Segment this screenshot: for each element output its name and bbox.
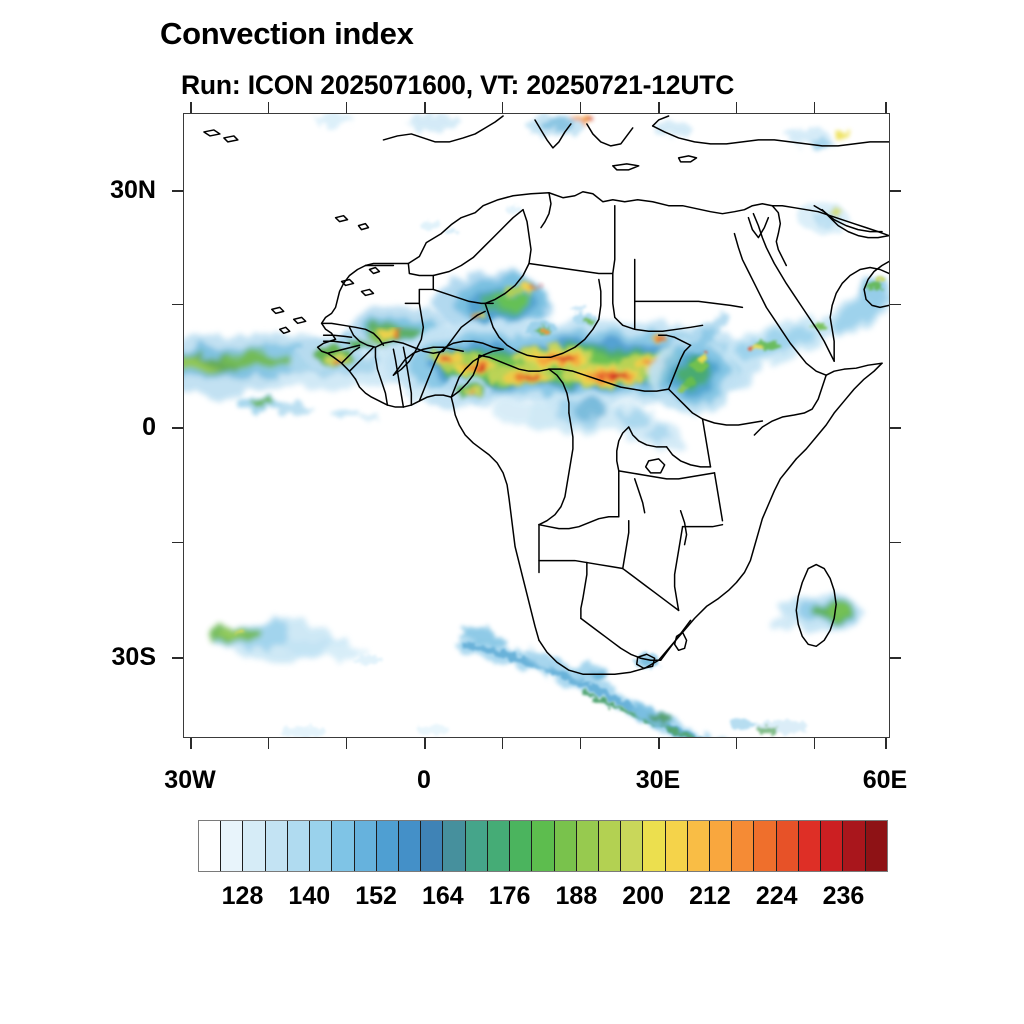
- x-tick-top-10w: [346, 102, 347, 113]
- y-axis-label-0: 0: [46, 415, 156, 440]
- x-tick-20w: [268, 738, 269, 749]
- colorbar-cell: [710, 821, 732, 871]
- x-tick-top-30w: [190, 102, 192, 113]
- run-valid-time-subtitle: Run: ICON 2025071600, VT: 20250721-12UTC: [181, 72, 734, 99]
- colorbar-cell: [754, 821, 776, 871]
- x-tick-60e: [885, 738, 887, 749]
- colorbar-cell: [666, 821, 688, 871]
- x-tick-top-30e: [658, 102, 660, 113]
- colorbar-label-152: 152: [355, 884, 397, 909]
- colorbar-cell: [799, 821, 821, 871]
- convection-index-figure: Convection index Run: ICON 2025071600, V…: [0, 0, 1024, 1024]
- colorbar-cell: [266, 821, 288, 871]
- x-tick-top-10e: [502, 102, 503, 113]
- colorbar-cell: [199, 821, 221, 871]
- map-canvas: [184, 114, 889, 737]
- colorbar-cell: [466, 821, 488, 871]
- colorbar-cell: [555, 821, 577, 871]
- colorbar-cell: [377, 821, 399, 871]
- x-tick-top-20w: [268, 102, 269, 113]
- colorbar-cell: [532, 821, 554, 871]
- x-tick-top-40e: [736, 102, 737, 113]
- colorbar-cell: [443, 821, 465, 871]
- y-tick-30n: [172, 190, 183, 192]
- y-tick-0: [172, 427, 183, 429]
- x-tick-40e: [736, 738, 737, 749]
- x-tick-top-20e: [580, 102, 581, 113]
- colorbar-cells[interactable]: [198, 820, 888, 872]
- colorbar-label-188: 188: [556, 884, 598, 909]
- colorbar-cell: [599, 821, 621, 871]
- colorbar-cell: [221, 821, 243, 871]
- y-tick-right-30s: [890, 657, 901, 659]
- colorbar-cell: [510, 821, 532, 871]
- x-axis-label-0: 0: [364, 768, 484, 793]
- colorbar-cell: [866, 821, 887, 871]
- colorbar-label-236: 236: [823, 884, 865, 909]
- y-tick-right-0: [890, 427, 901, 429]
- y-tick-15s: [172, 542, 183, 543]
- colorbar-cell: [488, 821, 510, 871]
- colorbar-label-212: 212: [689, 884, 731, 909]
- y-tick-30s: [172, 657, 183, 659]
- colorbar-cell: [332, 821, 354, 871]
- page-title: Convection index: [160, 18, 414, 49]
- colorbar-cell: [577, 821, 599, 871]
- colorbar-cell: [643, 821, 665, 871]
- colorbar-cell: [310, 821, 332, 871]
- x-axis-label-30w: 30W: [130, 768, 250, 793]
- colorbar-cell: [621, 821, 643, 871]
- colorbar-label-224: 224: [756, 884, 798, 909]
- colorbar-cell: [843, 821, 865, 871]
- x-tick-10e: [502, 738, 503, 749]
- y-tick-right-15n: [890, 304, 901, 305]
- colorbar[interactable]: [198, 820, 888, 872]
- x-tick-30w: [190, 738, 192, 749]
- colorbar-label-176: 176: [489, 884, 531, 909]
- x-tick-50e: [814, 738, 815, 749]
- convection-field: [184, 114, 889, 737]
- map-plot-area[interactable]: [183, 113, 890, 738]
- x-axis-label-60e: 60E: [825, 768, 945, 793]
- x-tick-top-60e: [885, 102, 887, 113]
- colorbar-cell: [732, 821, 754, 871]
- colorbar-cell: [399, 821, 421, 871]
- x-axis-label-30e: 30E: [598, 768, 718, 793]
- x-tick-10w: [346, 738, 347, 749]
- colorbar-cell: [821, 821, 843, 871]
- y-axis-label-30s: 30S: [46, 645, 156, 670]
- colorbar-cell: [688, 821, 710, 871]
- colorbar-cell: [288, 821, 310, 871]
- x-tick-top-50e: [814, 102, 815, 113]
- colorbar-label-164: 164: [422, 884, 464, 909]
- x-tick-30e: [658, 738, 660, 749]
- colorbar-label-140: 140: [288, 884, 330, 909]
- x-tick-0: [424, 738, 426, 749]
- colorbar-label-128: 128: [222, 884, 264, 909]
- y-tick-right-30n: [890, 190, 901, 192]
- colorbar-cell: [243, 821, 265, 871]
- x-tick-20e: [580, 738, 581, 749]
- x-tick-top-0: [424, 102, 426, 113]
- y-tick-15n: [172, 304, 183, 305]
- colorbar-cell: [421, 821, 443, 871]
- colorbar-cell: [355, 821, 377, 871]
- y-axis-label-30n: 30N: [46, 178, 156, 203]
- y-tick-right-15s: [890, 542, 901, 543]
- colorbar-label-200: 200: [622, 884, 664, 909]
- colorbar-cell: [777, 821, 799, 871]
